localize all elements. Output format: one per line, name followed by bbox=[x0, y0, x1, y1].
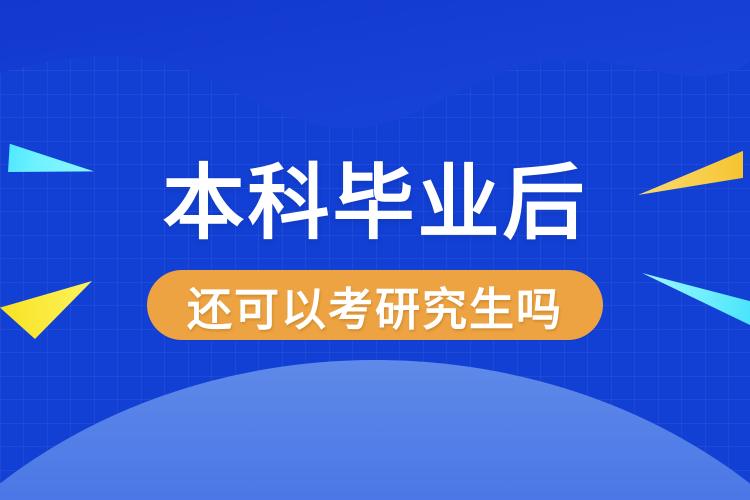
subtitle-badge: 还可以考研究生吗 bbox=[147, 270, 603, 340]
headline-title: 本科毕业后 bbox=[0, 158, 750, 250]
promo-banner: 本科毕业后 还可以考研究生吗 bbox=[0, 0, 750, 500]
subtitle-badge-container: 还可以考研究生吗 bbox=[0, 270, 750, 340]
